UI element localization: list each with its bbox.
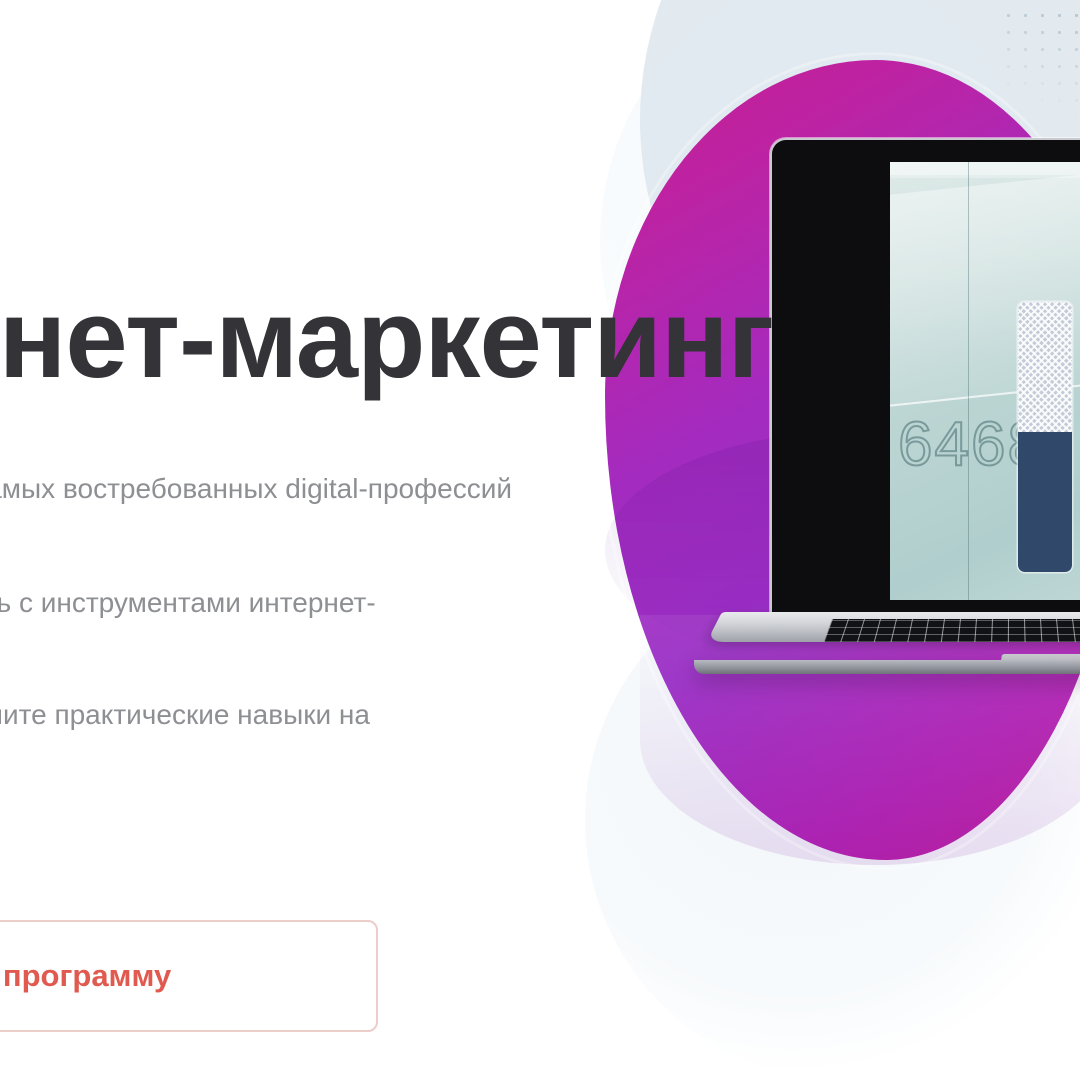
chart-bar-1-value <box>1018 432 1072 572</box>
view-program-button[interactable]: Смотреть программу <box>0 920 378 1032</box>
view-program-button-label: Смотреть программу <box>0 958 171 994</box>
laptop-keyboard <box>823 619 1080 642</box>
screen-photo-vertical-line <box>968 162 969 600</box>
hero-subtitle-line-2: Научитесь работать с инструментами интер… <box>0 582 510 624</box>
laptop-lid: 6468 <box>772 140 1080 620</box>
chart-bar-1 <box>1018 302 1072 572</box>
laptop-screen: 6468 <box>890 162 1080 600</box>
laptop-illustration: 6468 <box>672 140 1080 740</box>
hero-copy: Интернет-маркетинг Освойте одну из самых… <box>0 0 560 1080</box>
page-title: Интернет-маркетинг <box>0 283 773 395</box>
hero-subtitle-line-1: Освойте одну из самых востребованных dig… <box>0 468 510 510</box>
hero-stage: 6468 Интернет-марке <box>0 0 1080 1080</box>
hero-subtitle-line-3: маркетинга и получите практические навык… <box>0 694 510 736</box>
laptop-front-edge <box>694 660 1080 674</box>
